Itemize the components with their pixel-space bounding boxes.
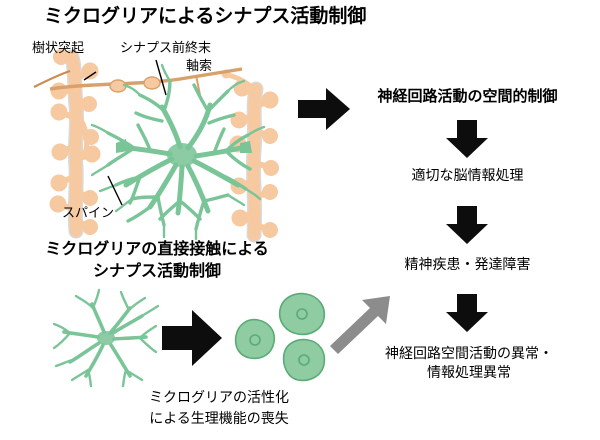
bottom-caption-line2: による生理機能の喪失 <box>104 410 334 427</box>
arrow-diagonal-up-right-icon <box>326 292 396 354</box>
activated-microglia-3 <box>284 340 325 381</box>
bottom-caption-line1: ミクログリアの活性化 <box>104 389 334 406</box>
flow-outcome-line2: 情報処理異常 <box>340 364 598 381</box>
leader-line-spine <box>108 176 122 205</box>
flow-step-2-label: 適切な脳情報処理 <box>340 167 595 184</box>
activated-microglia-2 <box>280 294 325 335</box>
microglia-ramified-small <box>54 290 158 386</box>
arrow-down-icon-3 <box>444 292 490 334</box>
activated-microglia-1 <box>236 320 275 359</box>
bottom-heading-line2: シナプス活動制御 <box>22 263 292 282</box>
flow-step-1-label: 神経回路活動の空間的制御 <box>340 88 595 106</box>
leader-line-dendrite <box>84 72 96 80</box>
flow-step-3-label: 精神疾患・発達障害 <box>340 256 595 273</box>
figure-canvas: ミクログリアによるシナプス活動制御 <box>0 0 600 440</box>
leader-line-presynaptic <box>156 60 166 95</box>
arrow-down-icon-1 <box>444 118 490 160</box>
bottom-panel-illustration <box>50 288 340 388</box>
arrow-down-icon-2 <box>444 204 490 246</box>
arrow-right-icon-activation <box>162 310 222 366</box>
activated-microglia-group <box>236 294 325 381</box>
bottom-heading-line1: ミクログリアの直接接触による <box>22 241 292 260</box>
